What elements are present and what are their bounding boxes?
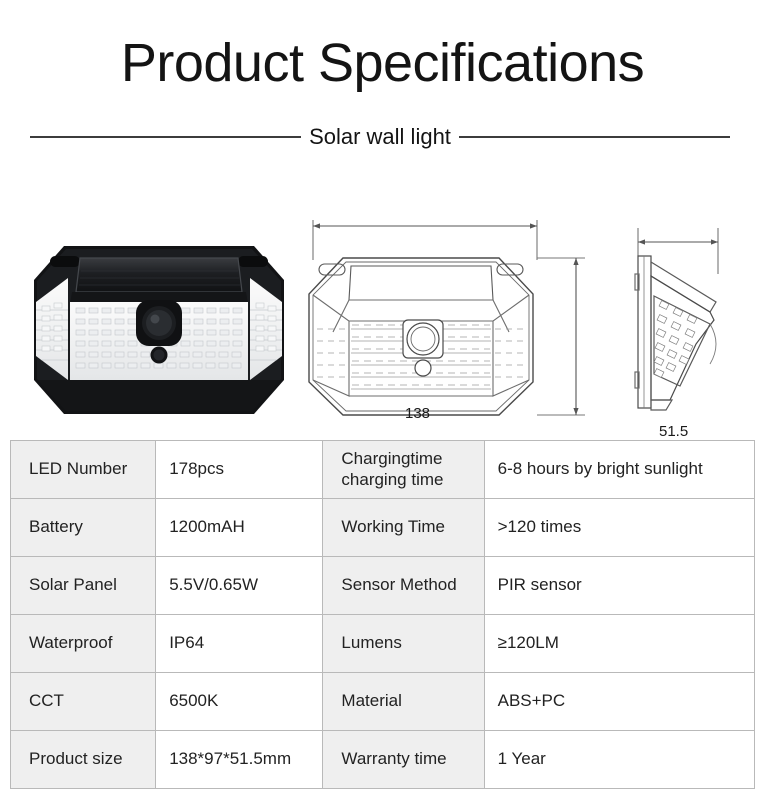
specification-table: LED Number 178pcs Chargingtime charging … xyxy=(10,440,755,789)
spec-key-material: Material xyxy=(323,673,484,731)
spec-key-working-time: Working Time xyxy=(323,499,484,557)
spec-key-cct: CCT xyxy=(11,673,156,731)
table-row: CCT 6500K Material ABS+PC xyxy=(11,673,755,731)
spec-key-sensor-method: Sensor Method xyxy=(323,557,484,615)
subtitle-rule-right xyxy=(459,136,730,138)
spec-value-lumens: ≥120LM xyxy=(484,615,754,673)
table-row: LED Number 178pcs Chargingtime charging … xyxy=(11,441,755,499)
spec-key-waterproof: Waterproof xyxy=(11,615,156,673)
spec-key-warranty-time: Warranty time xyxy=(323,731,484,789)
spec-value-warranty-time: 1 Year xyxy=(484,731,754,789)
spec-key-product-size: Product size xyxy=(11,731,156,789)
page-title: Product Specifications xyxy=(0,36,765,90)
subtitle-text: Solar wall light xyxy=(301,126,459,148)
table-row: Product size 138*97*51.5mm Warranty time… xyxy=(11,731,755,789)
dimension-label-width: 138 xyxy=(405,406,430,421)
solar-wall-light-photo xyxy=(28,240,290,422)
front-view-technical-drawing xyxy=(305,196,595,434)
dimension-label-depth: 51.5 xyxy=(659,424,688,439)
subtitle-row: Solar wall light xyxy=(30,126,730,148)
side-view-technical-drawing xyxy=(610,204,760,434)
spec-key-lumens: Lumens xyxy=(323,615,484,673)
spec-key-led-number: LED Number xyxy=(11,441,156,499)
spec-value-working-time: >120 times xyxy=(484,499,754,557)
spec-value-sensor-method: PIR sensor xyxy=(484,557,754,615)
table-row: Battery 1200mAH Working Time >120 times xyxy=(11,499,755,557)
spec-value-led-number: 178pcs xyxy=(156,441,323,499)
spec-value-material: ABS+PC xyxy=(484,673,754,731)
spec-value-product-size: 138*97*51.5mm xyxy=(156,731,323,789)
table-row: Waterproof IP64 Lumens ≥120LM xyxy=(11,615,755,673)
spec-key-charging-time: Chargingtime charging time xyxy=(323,441,484,499)
spec-key-solar-panel: Solar Panel xyxy=(11,557,156,615)
spec-value-solar-panel: 5.5V/0.65W xyxy=(156,557,323,615)
table-row: Solar Panel 5.5V/0.65W Sensor Method PIR… xyxy=(11,557,755,615)
spec-key-battery: Battery xyxy=(11,499,156,557)
subtitle-rule-left xyxy=(30,136,301,138)
figures-band: 138 97 51.5 xyxy=(0,196,765,436)
spec-value-charging-time: 6-8 hours by bright sunlight xyxy=(484,441,754,499)
spec-value-waterproof: IP64 xyxy=(156,615,323,673)
spec-value-cct: 6500K xyxy=(156,673,323,731)
spec-value-battery: 1200mAH xyxy=(156,499,323,557)
